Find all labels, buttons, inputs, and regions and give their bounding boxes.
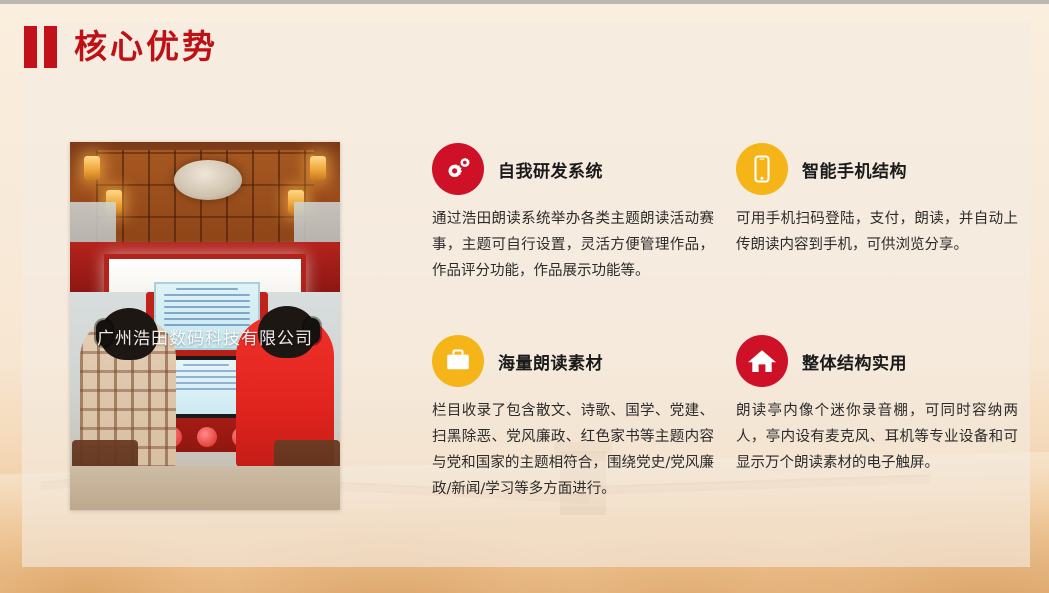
feature-card-self-development-system: 自我研发系统 通过浩田朗读系统举办各类主题朗读活动赛事，主题可自行设置，灵活方便… [432, 140, 728, 284]
feature-grid: 自我研发系统 通过浩田朗读系统举办各类主题朗读活动赛事，主题可自行设置，灵活方便… [432, 140, 1032, 502]
briefcase-icon [432, 335, 484, 387]
accent-bar-1 [24, 26, 37, 68]
slide-root: 核心优势 [0, 0, 1049, 593]
feature-body: 通过浩田朗读系统举办各类主题朗读活动赛事，主题可自行设置，灵活方便管理作品，作品… [432, 206, 714, 284]
photo-lamp-3 [310, 156, 326, 180]
feature-title: 自我研发系统 [498, 157, 603, 182]
photo-ceiling-light [174, 160, 242, 200]
accent-bar-2 [44, 26, 57, 68]
feature-title: 智能手机结构 [802, 157, 907, 182]
feature-header: 整体结构实用 [736, 332, 1032, 390]
feature-card-practical-overall-structure: 整体结构实用 朗读亭内像个迷你录音棚，可同时容纳两人，亭内设有麦克风、耳机等专业… [736, 332, 1032, 502]
photo-watermark-text: 广州浩田数码科技有限公司 [70, 324, 340, 349]
feature-header: 海量朗读素材 [432, 332, 728, 390]
feature-title: 海量朗读素材 [498, 349, 603, 374]
home-icon [736, 335, 788, 387]
gears-icon [432, 143, 484, 195]
feature-title: 整体结构实用 [802, 349, 907, 374]
feature-card-massive-reading-material: 海量朗读素材 栏目收录了包含散文、诗歌、国学、党建、扫黑除恶、党风廉政、红色家书… [432, 332, 728, 502]
smartphone-icon [736, 143, 788, 195]
page-title: 核心优势 [74, 24, 218, 70]
feature-card-smart-phone-structure: 智能手机结构 可用手机扫码登陆，支付，朗读，并自动上传朗读内容到手机，可供浏览分… [736, 140, 1032, 284]
feature-body: 栏目收录了包含散文、诗歌、国学、党建、扫黑除恶、党风廉政、红色家书等主题内容与党… [432, 398, 714, 502]
feature-header: 自我研发系统 [432, 140, 728, 198]
booth-photo: 广州浩田数码科技有限公司 [70, 142, 340, 510]
photo-lamp-1 [84, 156, 100, 180]
feature-header: 智能手机结构 [736, 140, 1032, 198]
title-accent-bars [24, 26, 57, 68]
feature-body: 朗读亭内像个迷你录音棚，可同时容纳两人，亭内设有麦克风、耳机等专业设备和可显示万… [736, 398, 1018, 476]
photo-floor [70, 466, 340, 510]
feature-body: 可用手机扫码登陆，支付，朗读，并自动上传朗读内容到手机，可供浏览分享。 [736, 206, 1018, 258]
header: 核心优势 [0, 4, 1049, 100]
